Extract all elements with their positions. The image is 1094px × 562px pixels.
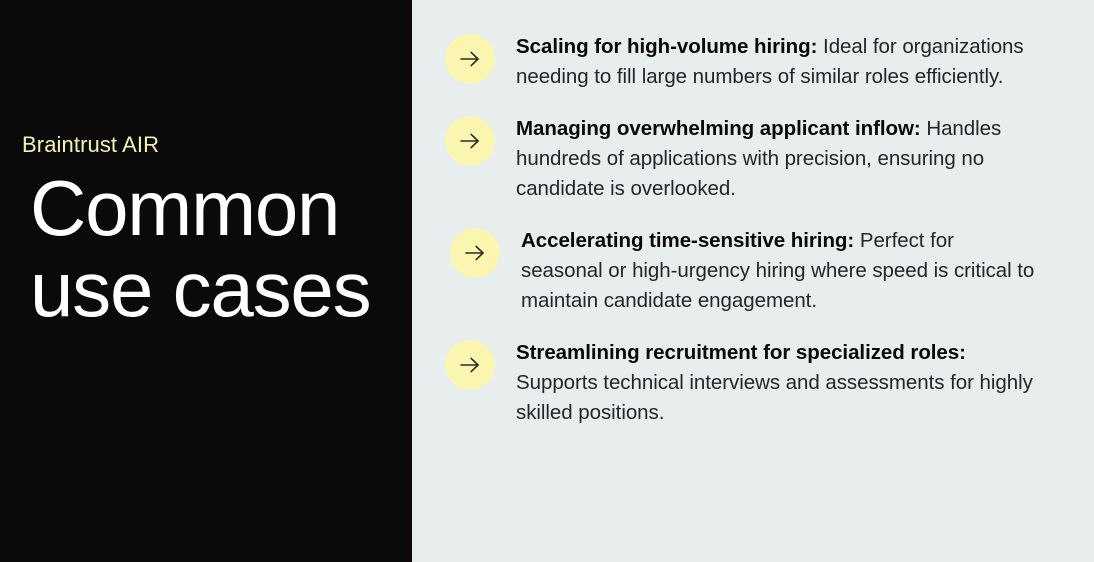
- brand-eyebrow: Braintrust AIR: [22, 130, 159, 160]
- arrow-right-icon: [445, 116, 495, 166]
- list-item: Streamlining recruitment for specialized…: [445, 338, 1094, 428]
- list-item-body: Supports technical interviews and assess…: [516, 371, 1033, 424]
- use-case-list: Scaling for high-volume hiring: Ideal fo…: [445, 32, 1094, 428]
- title-panel: Braintrust AIR Common use cases: [0, 0, 412, 562]
- list-item: Managing overwhelming applicant inflow: …: [445, 114, 1094, 204]
- content-panel: Scaling for high-volume hiring: Ideal fo…: [412, 0, 1094, 562]
- arrow-right-icon: [450, 228, 500, 278]
- list-item: Accelerating time-sensitive hiring: Perf…: [445, 226, 1094, 316]
- list-item: Scaling for high-volume hiring: Ideal fo…: [445, 32, 1094, 92]
- list-item-text: Streamlining recruitment for specialized…: [516, 338, 1034, 428]
- list-item-title: Streamlining recruitment for specialized…: [516, 341, 966, 364]
- arrow-right-icon: [445, 340, 495, 390]
- arrow-right-icon: [445, 34, 495, 84]
- list-item-text: Accelerating time-sensitive hiring: Perf…: [521, 226, 1039, 316]
- list-item-title: Accelerating time-sensitive hiring:: [521, 229, 854, 252]
- list-item-title: Scaling for high-volume hiring:: [516, 35, 817, 58]
- list-item-title: Managing overwhelming applicant inflow:: [516, 117, 921, 140]
- list-item-text: Managing overwhelming applicant inflow: …: [516, 114, 1034, 204]
- page-title: Common use cases: [30, 168, 400, 330]
- list-item-text: Scaling for high-volume hiring: Ideal fo…: [516, 32, 1034, 92]
